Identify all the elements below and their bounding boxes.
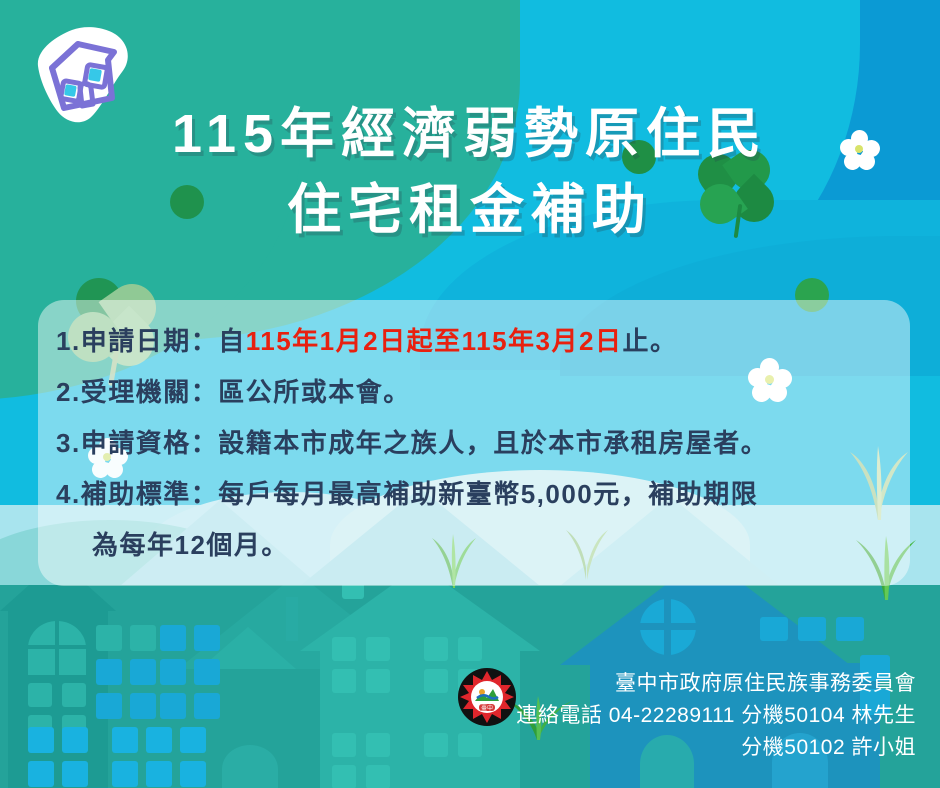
list-item: 3.申請資格：設籍本市成年之族人，且於本市承租房屋者。 bbox=[56, 418, 906, 469]
house-window bbox=[332, 669, 356, 693]
poster-canvas: 115年經濟弱勢原住民 住宅租金補助 1.申請日期：自115年1月2日起至115… bbox=[0, 0, 940, 788]
house-window bbox=[96, 625, 122, 651]
house-roof-left bbox=[0, 585, 116, 611]
item-number: 1. bbox=[56, 326, 81, 356]
chimney bbox=[286, 597, 298, 641]
item-label: 申請資格： bbox=[81, 428, 219, 458]
house-window bbox=[366, 733, 390, 757]
footer-phone: 連絡電話 04-22289111 分機50104 林先生 bbox=[516, 700, 916, 732]
svg-text:臺中: 臺中 bbox=[481, 704, 493, 712]
door-arch bbox=[222, 745, 278, 788]
house-window bbox=[112, 727, 138, 753]
title-line-2: 住宅租金補助 bbox=[0, 172, 940, 248]
item-number: 4. bbox=[56, 479, 81, 509]
arch-mullion-h bbox=[28, 645, 86, 649]
content-list: 1.申請日期：自115年1月2日起至115年3月2日止。 2.受理機關：區公所或… bbox=[56, 316, 906, 571]
house-window bbox=[332, 733, 356, 757]
house-window bbox=[62, 683, 86, 707]
house-window bbox=[760, 617, 788, 641]
item-prefix: 自 bbox=[218, 326, 246, 356]
house-window bbox=[160, 625, 186, 651]
item-prefix: 區公所或本會。 bbox=[218, 377, 411, 407]
footer-organization: 臺中市政府原住民族事務委員會 bbox=[516, 668, 916, 700]
item-label: 受理機關： bbox=[81, 377, 219, 407]
house-window bbox=[96, 693, 122, 719]
house-window bbox=[424, 733, 448, 757]
house-window bbox=[366, 765, 390, 788]
house-window bbox=[194, 659, 220, 685]
house-window bbox=[332, 637, 356, 661]
house-window bbox=[62, 727, 88, 753]
house-window bbox=[180, 727, 206, 753]
list-item: 4.補助標準：每戶每月最高補助新臺幣5,000元，補助期限 bbox=[56, 469, 906, 520]
house-window bbox=[424, 637, 448, 661]
taichung-indigenous-affairs-logo: 臺中 bbox=[458, 668, 516, 726]
poster-title: 115年經濟弱勢原住民 住宅租金補助 bbox=[0, 96, 940, 248]
item-number: 2. bbox=[56, 377, 81, 407]
house-window bbox=[332, 765, 356, 788]
list-item: 2.受理機關：區公所或本會。 bbox=[56, 367, 906, 418]
house-window bbox=[130, 625, 156, 651]
house-window bbox=[146, 761, 172, 787]
house-window bbox=[62, 761, 88, 787]
list-item: 1.申請日期：自115年1月2日起至115年3月2日止。 bbox=[56, 316, 906, 367]
item-prefix: 設籍本市成年之族人，且於本市承租房屋者。 bbox=[218, 428, 768, 458]
footer-contact: 臺中市政府原住民族事務委員會 連絡電話 04-22289111 分機50104 … bbox=[516, 668, 916, 764]
house-window bbox=[458, 637, 482, 661]
round-window-bar-v bbox=[664, 599, 671, 655]
house-window bbox=[28, 761, 54, 787]
footer-phone-secondary: 分機50102 許小姐 bbox=[516, 732, 916, 764]
house-window bbox=[366, 637, 390, 661]
house-window bbox=[160, 693, 186, 719]
item-label: 申請日期： bbox=[81, 326, 219, 356]
item-prefix: 每戶每月最高補助新臺幣5,000元，補助期限 bbox=[218, 479, 758, 509]
item-label: 補助標準： bbox=[81, 479, 219, 509]
house-window bbox=[130, 659, 156, 685]
item-highlight: 115年1月2日起至115年3月2日 bbox=[246, 326, 623, 356]
house-window bbox=[342, 585, 364, 599]
house-window bbox=[194, 625, 220, 651]
house-window bbox=[366, 669, 390, 693]
item-suffix: 止。 bbox=[622, 326, 677, 356]
title-line-1: 115年經濟弱勢原住民 bbox=[0, 96, 940, 172]
house-window bbox=[146, 727, 172, 753]
list-item-continuation: 為每年12個月。 bbox=[56, 520, 906, 571]
item-number: 3. bbox=[56, 428, 81, 458]
house-window bbox=[458, 733, 482, 757]
house-window bbox=[96, 659, 122, 685]
house-window bbox=[194, 693, 220, 719]
house-window bbox=[836, 617, 864, 641]
house-window bbox=[28, 683, 52, 707]
house-window bbox=[160, 659, 186, 685]
house-window bbox=[28, 727, 54, 753]
house-window bbox=[180, 761, 206, 787]
house-window bbox=[424, 669, 448, 693]
house-window bbox=[130, 693, 156, 719]
house-window bbox=[798, 617, 826, 641]
house-window bbox=[112, 761, 138, 787]
